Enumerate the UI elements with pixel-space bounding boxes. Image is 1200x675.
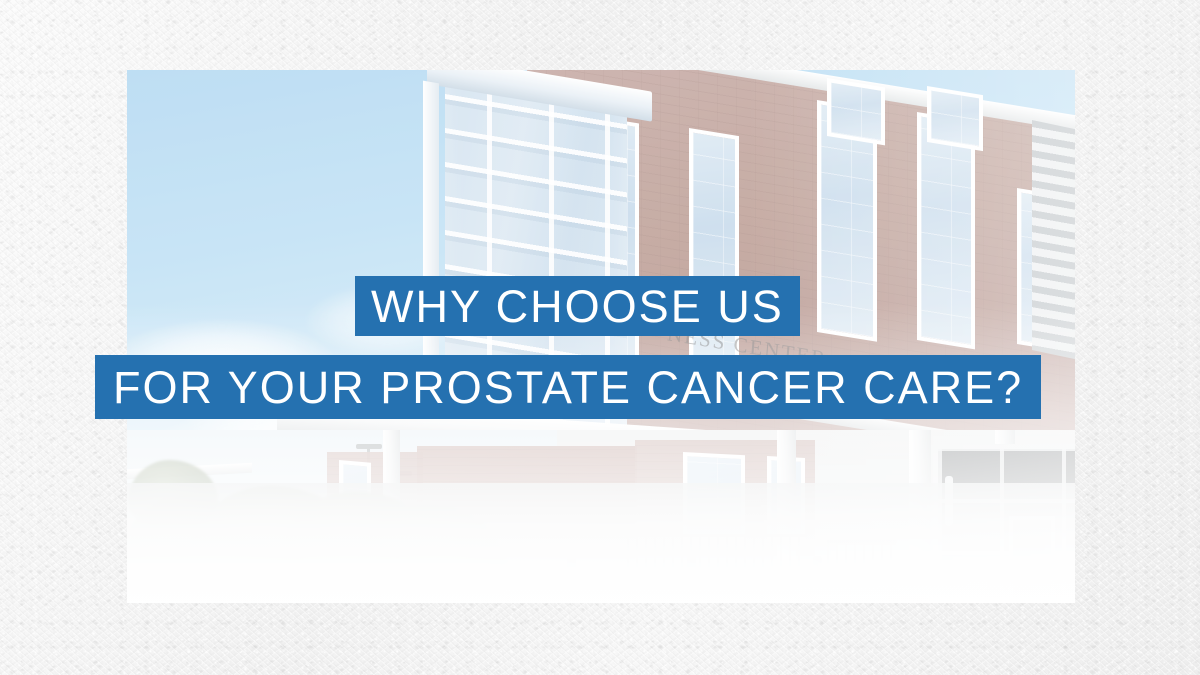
pavement — [127, 483, 1075, 603]
roof-louver-screen — [1032, 120, 1075, 365]
facade-window — [827, 78, 885, 145]
facade-window — [927, 86, 983, 151]
building-photo: NESS CENTER — [127, 70, 1075, 603]
slide-canvas: NESS CENTER — [0, 0, 1200, 675]
ground-level — [127, 430, 1075, 603]
title-band-line-2: FOR YOUR PROSTATE CANCER CARE? — [95, 355, 1041, 419]
title-band-line-1: WHY CHOOSE US — [355, 276, 800, 336]
